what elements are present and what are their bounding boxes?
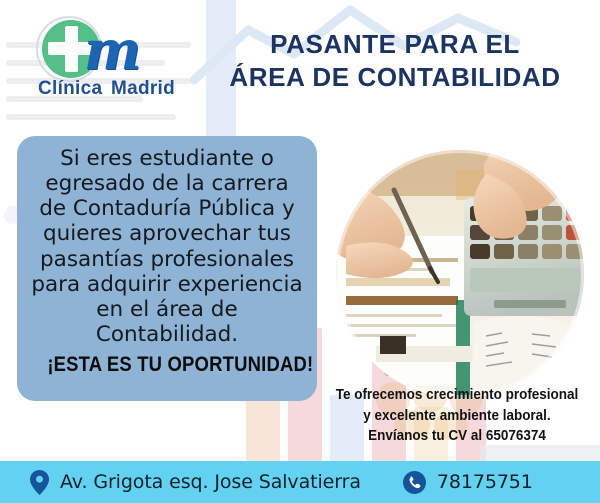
promo-line-3: Envíanos tu CV al 65076374 [328,426,587,447]
address-text: Av. Grigota esq. Jose Salvatierra [60,471,361,493]
job-posting-poster: m Clínica Madrid PASANTE PARA EL ÁREA DE… [0,0,600,503]
corner-wedge-decoration [480,445,600,461]
poster-headline: PASANTE PARA EL ÁREA DE CONTABILIDAD [200,28,590,95]
contact-footer-bar: Av. Grigota esq. Jose Salvatierra 781757… [0,461,600,503]
clinic-logo: m Clínica Madrid [24,14,189,98]
clinic-name: Clínica Madrid [24,78,189,100]
phone-icon [403,471,426,494]
headline-line-1: PASANTE PARA EL [270,29,520,59]
accountant-photo-illustration [336,150,584,398]
map-pin-icon [30,470,49,495]
promo-line-2: y excelente ambiente laboral. [328,406,587,427]
description-text: Si eres estudiante o egresado de la carr… [31,146,303,347]
logo-monogram: m [84,18,140,82]
promo-text: Te ofrecemos crecimiento profesional y e… [328,385,587,447]
promo-line-1: Te ofrecemos crecimiento profesional [328,385,587,406]
footer-address[interactable]: Av. Grigota esq. Jose Salvatierra [30,470,361,495]
description-card: Si eres estudiante o egresado de la carr… [17,136,317,401]
call-to-action-text: ¡ESTA ES TU OPORTUNIDAD! [47,353,286,377]
accountant-photo [336,150,584,398]
footer-phone[interactable]: 78175751 [403,471,533,494]
phone-text: 78175751 [437,471,533,493]
headline-line-2: ÁREA DE CONTABILIDAD [200,61,590,94]
